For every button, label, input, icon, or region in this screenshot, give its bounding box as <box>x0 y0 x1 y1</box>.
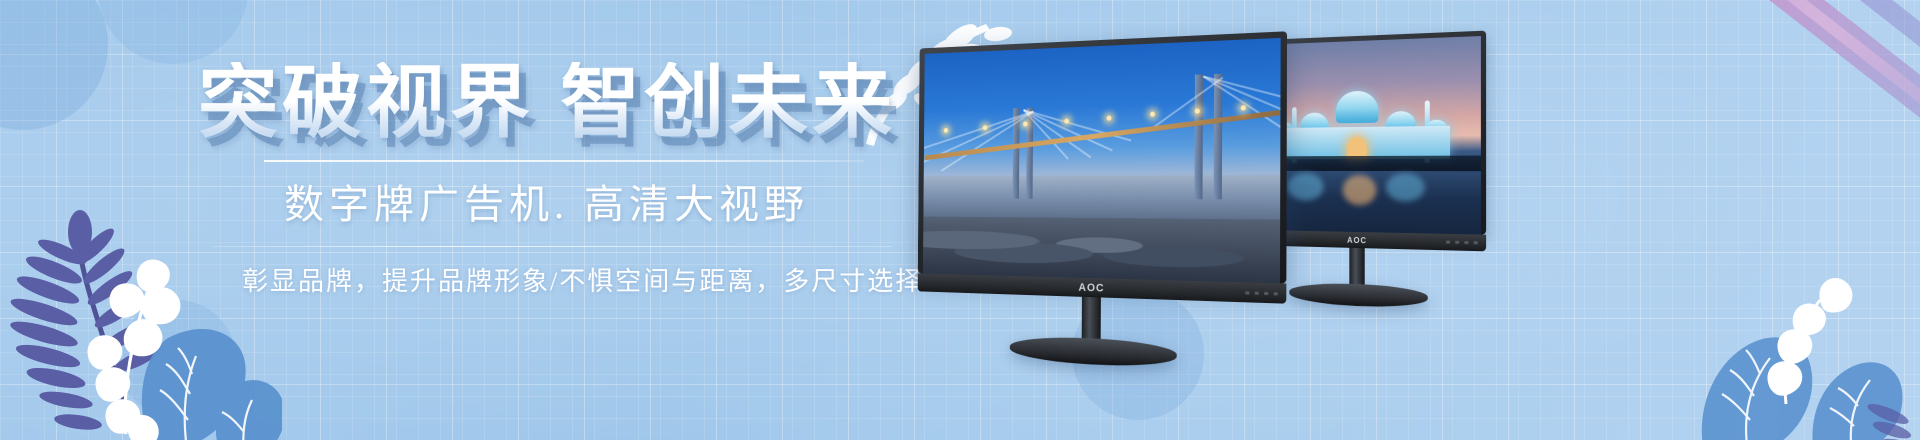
monitor-base <box>1010 335 1177 370</box>
aoc-logo: AOC <box>1347 235 1367 244</box>
monitor-bezel <box>918 31 1287 283</box>
product-monitors: AOC <box>880 0 1920 440</box>
banner-tagline: 彰显品牌，提升品牌形象/不惧空间与距离，多尺寸选择 <box>242 261 918 298</box>
page-title: 突破视界 智创未来 <box>198 62 918 144</box>
banner-copy: 突破视界 智创未来 数字牌广告机. 高清大视野 彰显品牌，提升品牌形象/不惧空间… <box>198 62 918 298</box>
banner-subtitle: 数字牌广告机. 高清大视野 <box>284 172 918 230</box>
port-indicators <box>1446 241 1478 245</box>
divider <box>264 160 864 162</box>
monitor-base <box>1289 281 1427 309</box>
monitor-screen-bridge <box>923 38 1281 283</box>
port-indicators <box>1245 291 1278 295</box>
aoc-logo: AOC <box>1078 281 1104 294</box>
monitor-primary: AOC <box>917 31 1287 349</box>
decor-circle <box>118 300 236 418</box>
promo-banner: 突破视界 智创未来 数字牌广告机. 高清大视野 彰显品牌，提升品牌形象/不惧空间… <box>0 0 1920 440</box>
divider <box>212 246 892 247</box>
